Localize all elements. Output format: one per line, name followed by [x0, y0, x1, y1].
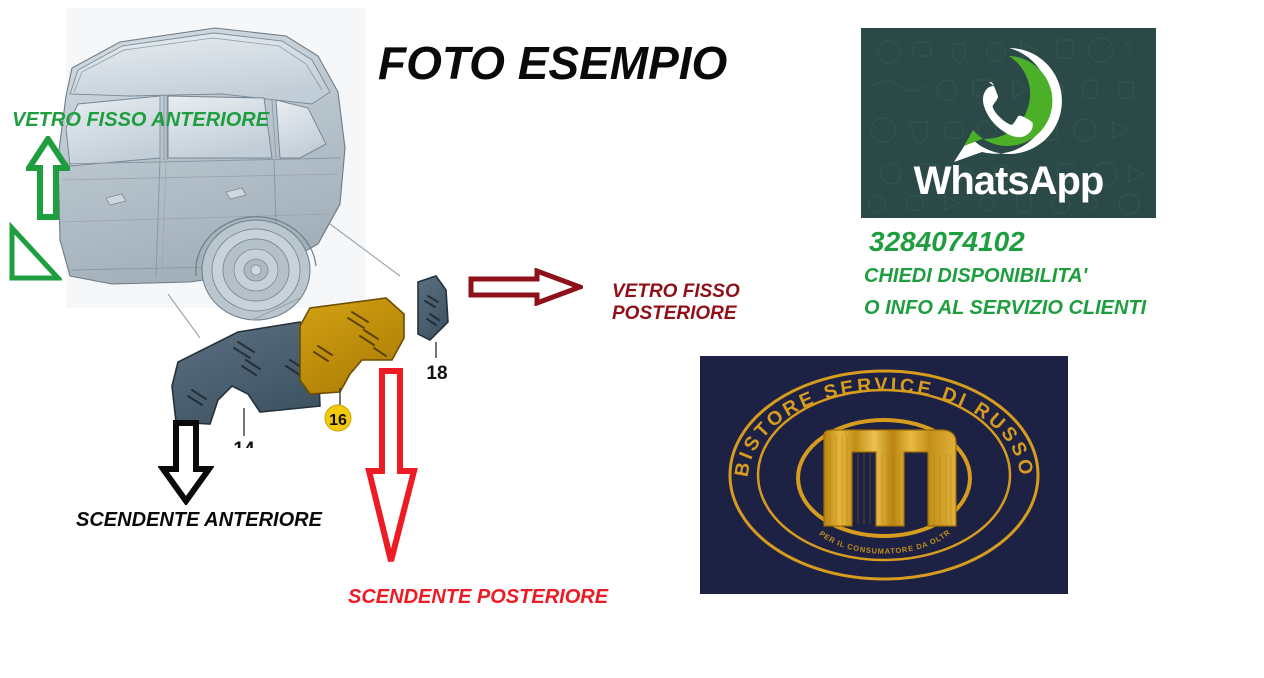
label-scendente-anteriore: SCENDENTE ANTERIORE: [76, 509, 322, 532]
right-arrow-maroon-icon: [468, 268, 583, 311]
label-scendente-posteriore: SCENDENTE POSTERIORE: [348, 586, 608, 609]
svg-text:14: 14: [233, 439, 255, 448]
svg-text:16: 16: [329, 412, 347, 429]
page-title: FOTO ESEMPIO: [378, 36, 727, 90]
label-vetro-fisso-anteriore: VETRO FISSO ANTERIORE: [12, 109, 269, 132]
screenshot-canvas: 14 16 17: [0, 0, 1264, 678]
whatsapp-icon: [944, 42, 1074, 170]
whatsapp-cta-line-2: O INFO AL SERVIZIO CLIENTI: [864, 297, 1146, 320]
car-body-outline: [58, 28, 345, 320]
logo-monogram: [798, 420, 970, 536]
svg-text:18: 18: [426, 363, 447, 384]
shop-logo-banner: MRICAMBISTORE SERVICE DI RUSSO MARCO: [700, 356, 1068, 594]
up-arrow-green-icon: [26, 136, 70, 225]
part-18-glass: 18: [418, 276, 448, 384]
down-arrow-red-icon: [363, 367, 419, 572]
label-vetro-fisso-posteriore: VETRO FISSO POSTERIORE: [612, 281, 740, 325]
whatsapp-phone-number[interactable]: 3284074102: [869, 226, 1025, 258]
whatsapp-banner: WhatsApp: [861, 28, 1156, 218]
triangle-green-icon: [6, 222, 62, 289]
whatsapp-wordmark: WhatsApp: [861, 159, 1156, 204]
down-arrow-black-icon: [158, 419, 214, 510]
whatsapp-cta-line-1: CHIEDI DISPONIBILITA': [864, 265, 1087, 288]
